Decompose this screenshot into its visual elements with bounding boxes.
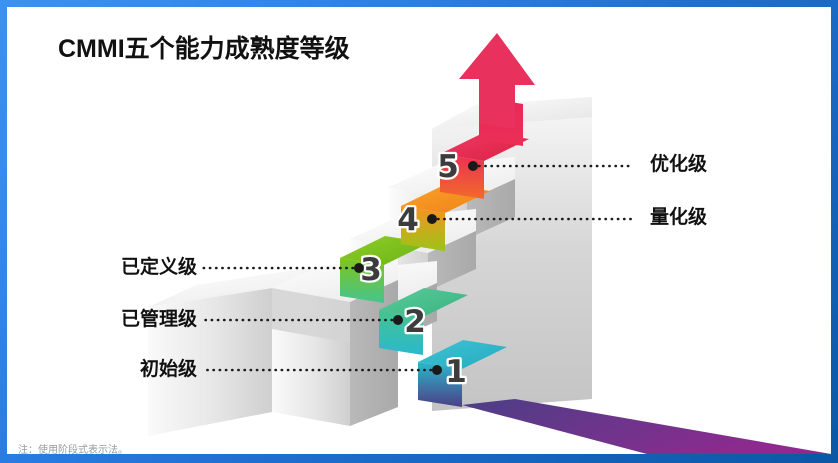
footnote: 注：使用阶段式表示法。 — [18, 441, 128, 454]
ribbon-base — [462, 399, 831, 454]
leader-dot-5 — [468, 161, 478, 171]
step-number-1: 1 — [445, 354, 467, 390]
slide-canvas: CMMI五个能力成熟度等级 — [0, 0, 838, 463]
step-label-2: 已管理级 — [87, 310, 197, 329]
slide-content-area: CMMI五个能力成熟度等级 — [7, 7, 831, 454]
step-number-3: 3 — [360, 252, 382, 288]
step-number-4: 4 — [397, 202, 419, 238]
step-number-2: 2 — [404, 304, 426, 340]
step-label-1: 初始级 — [87, 360, 197, 379]
leader-dot-1 — [432, 365, 442, 375]
step-number-5: 5 — [437, 149, 459, 185]
step-label-5: 优化级 — [650, 155, 707, 174]
leader-dot-4 — [427, 214, 437, 224]
leader-dot-2 — [393, 315, 403, 325]
step-label-4: 量化级 — [650, 208, 707, 227]
cmmi-staircase-diagram: 5 4 3 2 1 — [7, 7, 831, 454]
step-label-3: 已定义级 — [87, 258, 197, 277]
